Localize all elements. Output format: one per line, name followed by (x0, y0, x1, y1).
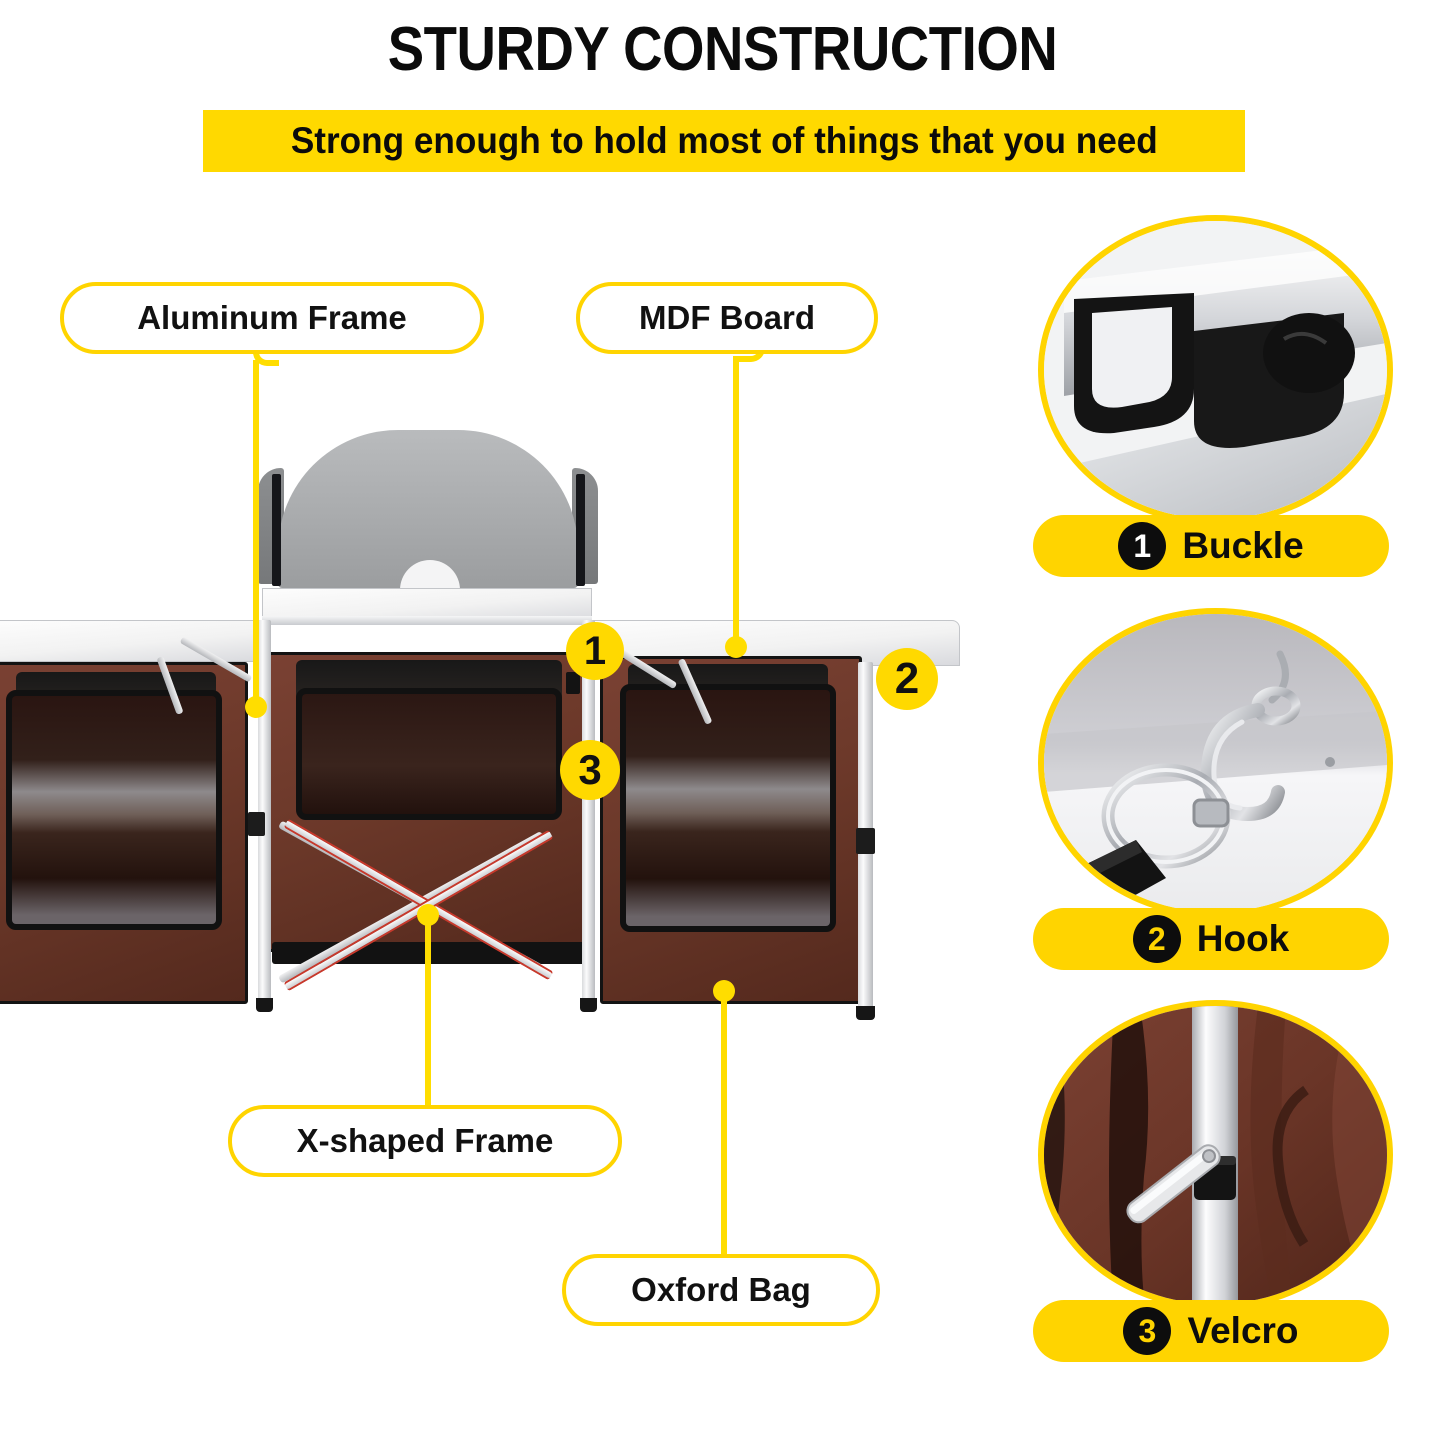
photo-marker-2: 2 (876, 648, 938, 710)
hook-illustration (1044, 614, 1393, 918)
callout-aluminum-frame-label: Aluminum Frame (137, 299, 407, 337)
center-cabinet-opening (296, 688, 562, 820)
infographic-page: STURDY CONSTRUCTION Strong enough to hol… (0, 0, 1445, 1445)
photo-marker-1: 1 (566, 622, 624, 680)
windscreen-hinge-left (272, 474, 281, 586)
photo-marker-1-number: 1 (584, 629, 606, 674)
leader-v-xframe (425, 912, 431, 1120)
left-table-top (0, 620, 270, 662)
leader-v-aluminum (253, 360, 259, 706)
detail-badge-label-hook: Hook (1197, 918, 1290, 960)
detail-panel-velcro: 3 Velcro (1015, 1000, 1415, 1310)
detail-badge-hook: 2 Hook (1033, 908, 1389, 970)
page-title: STURDY CONSTRUCTION (87, 14, 1359, 85)
detail-badge-number-1: 1 (1118, 522, 1166, 570)
detail-badge-velcro: 3 Velcro (1033, 1300, 1389, 1362)
right-leg-collar (856, 828, 875, 854)
right-leg-foot (856, 1006, 875, 1020)
velcro-illustration (1044, 1006, 1393, 1310)
callout-mdf-board-label: MDF Board (639, 299, 815, 337)
photo-marker-3-number: 3 (578, 746, 601, 794)
detail-badge-number-2: 2 (1133, 915, 1181, 963)
callout-oxford-bag[interactable]: Oxford Bag (562, 1254, 880, 1326)
callout-aluminum-frame[interactable]: Aluminum Frame (60, 282, 484, 354)
photo-marker-2-number: 2 (895, 654, 919, 704)
detail-badge-label-velcro: Velcro (1187, 1310, 1298, 1352)
callout-x-shaped-frame[interactable]: X-shaped Frame (228, 1105, 622, 1177)
subtitle-text: Strong enough to hold most of things tha… (291, 120, 1158, 162)
subtitle-banner: Strong enough to hold most of things tha… (203, 110, 1245, 172)
detail-panel-hook: 2 Hook (1015, 608, 1415, 918)
callout-oxford-bag-label: Oxford Bag (631, 1271, 811, 1309)
buckle-illustration (1044, 221, 1393, 525)
detail-badge-number-3: 3 (1123, 1307, 1171, 1355)
detail-badge-buckle: 1 Buckle (1033, 515, 1389, 577)
center-leg-foot-right (580, 998, 597, 1012)
center-leg-foot (256, 998, 273, 1012)
right-cabinet-opening (620, 684, 836, 932)
windscreen-hinge-right (576, 474, 585, 586)
left-cabinet-opening (6, 690, 222, 930)
product-photo (0, 420, 960, 1060)
leader-dot-aluminum (245, 696, 267, 718)
detail-badge-label-buckle: Buckle (1182, 525, 1303, 567)
detail-image-hook (1038, 608, 1393, 918)
callout-mdf-board[interactable]: MDF Board (576, 282, 878, 354)
leader-dot-mdf (725, 636, 747, 658)
leader-dot-oxford (713, 980, 735, 1002)
leader-dot-xframe (417, 904, 439, 926)
photo-marker-3: 3 (560, 740, 620, 800)
upper-shelf-rail (262, 616, 592, 625)
hook-clip (566, 672, 580, 694)
detail-image-velcro (1038, 1000, 1393, 1310)
center-leg-collar (248, 812, 265, 836)
detail-image-buckle (1038, 215, 1393, 525)
callout-x-shaped-frame-label: X-shaped Frame (297, 1122, 554, 1160)
leader-v-oxford (721, 988, 727, 1256)
detail-panel-buckle: 1 Buckle (1015, 215, 1415, 525)
leader-v-mdf (733, 356, 739, 646)
